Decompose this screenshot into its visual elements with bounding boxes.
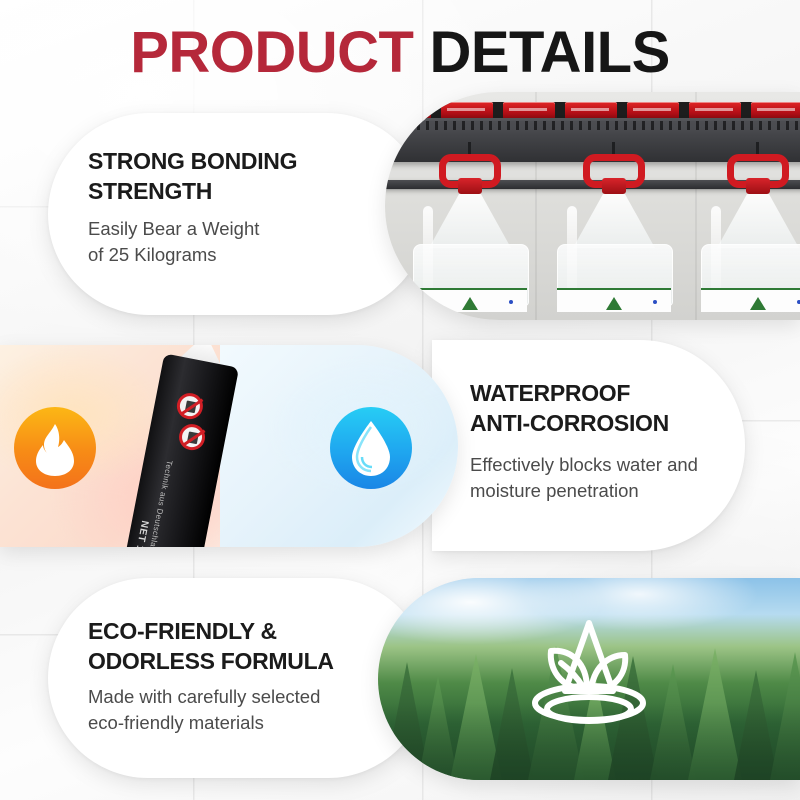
heading-line: STRENGTH — [88, 176, 297, 206]
product-details-banner: PRODUCTDETAILS — [0, 0, 800, 800]
heading-line: ECO-FRIENDLY & — [88, 616, 334, 646]
body-line: of 25 Kilograms — [88, 242, 259, 268]
water-bottle — [555, 192, 673, 312]
page-title-details: DETAILS — [429, 20, 669, 85]
bottle-cap — [627, 102, 679, 119]
bottle-caps-row — [385, 102, 800, 119]
flame-icon — [14, 407, 96, 489]
red-bottle-clip — [583, 154, 645, 200]
water-droplet-icon — [330, 407, 412, 489]
bottle-cap — [385, 102, 431, 119]
body-line: eco-friendly materials — [88, 710, 320, 736]
bottle-cap — [503, 102, 555, 119]
page-title: PRODUCTDETAILS — [0, 22, 800, 84]
no-flame-warning-icon — [175, 391, 205, 421]
feature-body-waterproof-anti-corrosion: Effectively blocks water and moisture pe… — [470, 452, 698, 504]
feature-heading-waterproof-anti-corrosion: WATERPROOF ANTI-CORROSION — [470, 378, 669, 438]
red-bottle-clip — [439, 154, 501, 200]
no-contact-warning-icon — [177, 422, 207, 452]
heading-line: STRONG BONDING — [88, 146, 297, 176]
tube-weight-text: NET 12g — [131, 520, 150, 547]
feature-body-strong-bonding-strength: Easily Bear a Weight of 25 Kilograms — [88, 216, 259, 268]
bottle-rack-scene — [385, 92, 800, 320]
feature-image-forest — [378, 578, 800, 780]
feature-heading-eco-friendly-odorless-formula: ECO-FRIENDLY & ODORLESS FORMULA — [88, 616, 334, 676]
bottle-cap — [441, 102, 493, 119]
feature-body-eco-friendly-odorless-formula: Made with carefully selected eco-friendl… — [88, 684, 320, 736]
feature-image-bottle-rack — [385, 92, 800, 320]
feature-heading-strong-bonding-strength: STRONG BONDING STRENGTH — [88, 146, 297, 206]
feature-card-eco-friendly-odorless-formula — [48, 578, 428, 778]
heading-line: WATERPROOF — [470, 378, 669, 408]
feature-card-waterproof-anti-corrosion — [432, 340, 745, 551]
red-bottle-clip — [727, 154, 789, 200]
bottle-cap — [565, 102, 617, 119]
body-line: moisture penetration — [470, 478, 698, 504]
heat-water-split-scene: Technik aus Deutschland NET 12g — [0, 345, 458, 547]
body-line: Made with carefully selected — [88, 684, 320, 710]
eco-sprout-icon — [509, 607, 669, 747]
heading-line: ODORLESS FORMULA — [88, 646, 334, 676]
shelf-slots — [385, 121, 800, 130]
feature-image-tube-heat-water: Technik aus Deutschland NET 12g — [0, 345, 458, 547]
heading-line: ANTI-CORROSION — [470, 408, 669, 438]
bottle-cap — [689, 102, 741, 119]
bottle-cap — [751, 102, 800, 119]
body-line: Easily Bear a Weight — [88, 216, 259, 242]
feature-card-strong-bonding-strength — [48, 113, 428, 315]
tube-origin-text: Technik aus Deutschland — [147, 459, 175, 547]
forest-scene — [378, 578, 800, 780]
water-bottle — [699, 192, 800, 312]
page-title-product: PRODUCT — [130, 20, 413, 85]
body-line: Effectively blocks water and — [470, 452, 698, 478]
water-bottle — [411, 192, 529, 312]
